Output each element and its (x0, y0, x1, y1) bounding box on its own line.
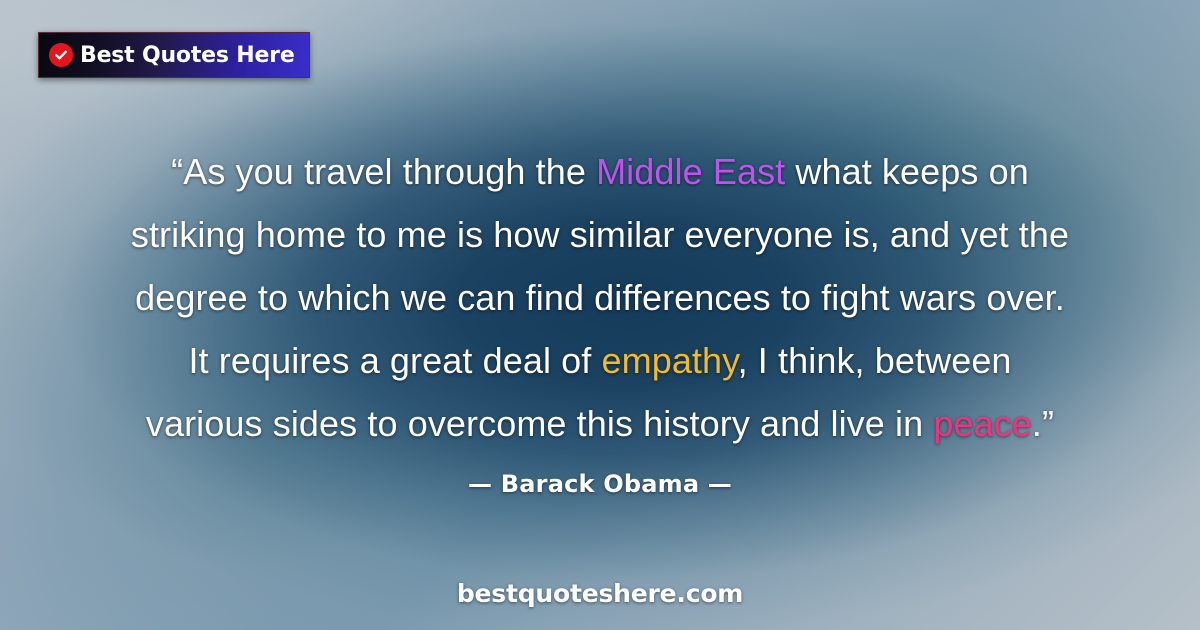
quote-highlight-middle-east: Middle East (596, 151, 785, 192)
quote-segment: degree to which we can find differences … (135, 277, 1065, 318)
quote-segment: various sides to overcome this history a… (146, 403, 933, 444)
quote-highlight-peace: peace (933, 403, 1032, 444)
footer-website: bestquoteshere.com (0, 579, 1200, 608)
quote-line-3: degree to which we can find differences … (70, 266, 1130, 329)
quote-text: “As you travel through the Middle East w… (0, 140, 1200, 455)
quote-attribution: — Barack Obama — (0, 470, 1200, 498)
quote-line-1: “As you travel through the Middle East w… (70, 140, 1130, 203)
quote-segment: , I think, between (738, 340, 1012, 381)
quote-card: Best Quotes Here “As you travel through … (0, 0, 1200, 630)
check-circle-icon (49, 43, 73, 67)
brand-badge[interactable]: Best Quotes Here (38, 32, 310, 78)
quote-segment: striking home to me is how similar every… (131, 214, 1069, 255)
quote-line-4: It requires a great deal of empathy, I t… (70, 329, 1130, 392)
quote-segment: what keeps on (785, 151, 1029, 192)
quote-line-2: striking home to me is how similar every… (70, 203, 1130, 266)
quote-highlight-empathy: empathy (601, 340, 737, 381)
brand-badge-label: Best Quotes Here (80, 43, 295, 68)
quote-segment: It requires a great deal of (188, 340, 601, 381)
quote-segment: “As you travel through the (171, 151, 596, 192)
quote-segment: .” (1032, 403, 1054, 444)
quote-line-5: various sides to overcome this history a… (70, 392, 1130, 455)
